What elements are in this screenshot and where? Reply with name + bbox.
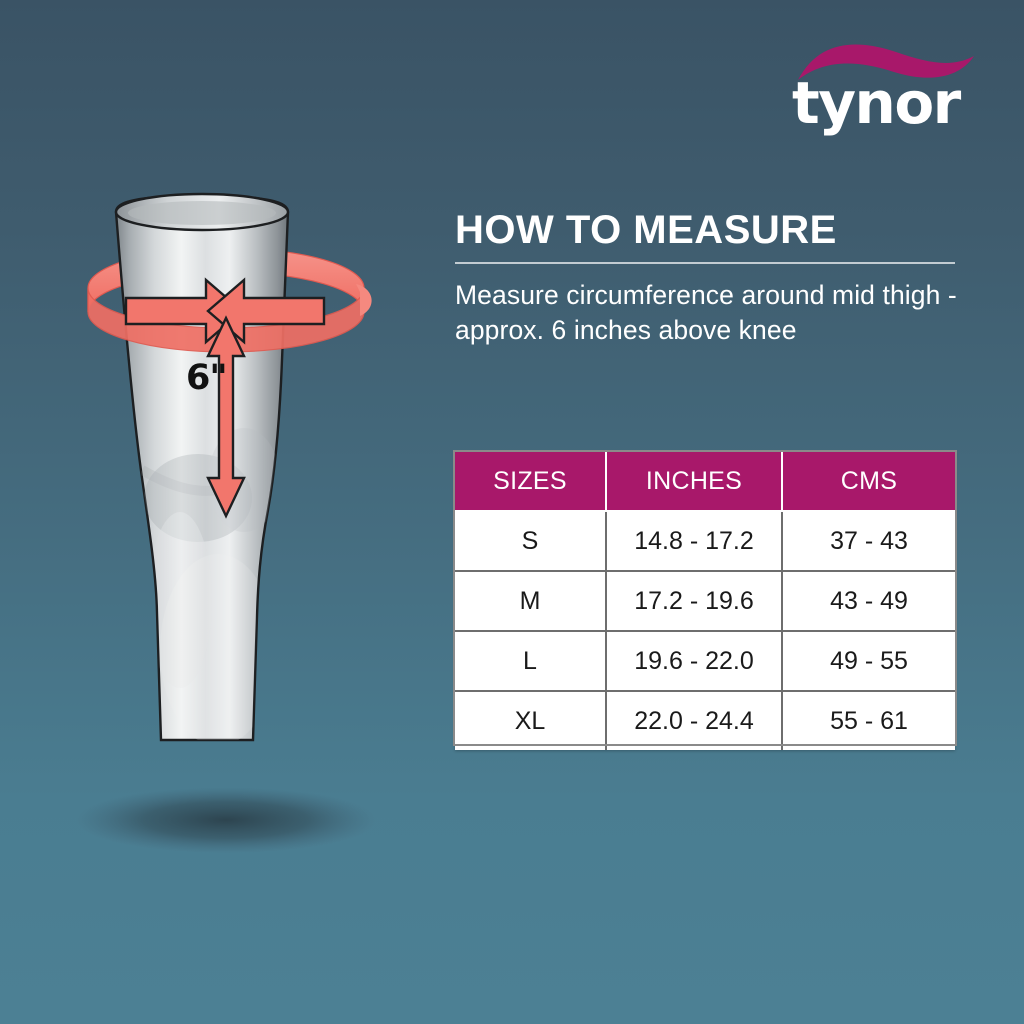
cell-size: L (455, 632, 607, 692)
column-header-inches: INCHES (607, 452, 783, 512)
cell-inches: 17.2 - 19.6 (607, 572, 783, 632)
measure-description: Measure circumference around mid thigh -… (455, 278, 960, 348)
cell-cms: 49 - 55 (783, 632, 955, 692)
leg-shape (116, 194, 288, 746)
size-chart-table: SIZES INCHES CMS S 14.8 - 17.2 37 - 43 M… (455, 452, 955, 750)
ground-shadow (76, 787, 376, 853)
page-title: HOW TO MEASURE (455, 208, 960, 252)
cell-size: M (455, 572, 607, 632)
column-header-cms: CMS (783, 452, 955, 512)
cell-size: S (455, 512, 607, 572)
cell-cms: 37 - 43 (783, 512, 955, 572)
cell-cms: 55 - 61 (783, 692, 955, 750)
table-row: S 14.8 - 17.2 37 - 43 (455, 512, 955, 572)
table-row: L 19.6 - 22.0 49 - 55 (455, 632, 955, 692)
column-header-sizes: SIZES (455, 452, 607, 512)
logo-wordmark: tynor (792, 74, 982, 132)
cell-inches: 19.6 - 22.0 (607, 632, 783, 692)
cell-inches: 22.0 - 24.4 (607, 692, 783, 750)
cell-cms: 43 - 49 (783, 572, 955, 632)
brand-logo: tynor (790, 36, 980, 141)
table-header-row: SIZES INCHES CMS (455, 452, 955, 512)
table-row: XL 22.0 - 24.4 55 - 61 (455, 692, 955, 750)
cell-size: XL (455, 692, 607, 750)
cell-inches: 14.8 - 17.2 (607, 512, 783, 572)
leg-measurement-illustration (30, 180, 430, 880)
six-inch-label: 6" (186, 358, 227, 398)
title-divider (455, 262, 955, 264)
table-row: M 17.2 - 19.6 43 - 49 (455, 572, 955, 632)
size-chart-canvas: tynor HOW TO MEASURE Measure circumferen… (0, 0, 1024, 1024)
